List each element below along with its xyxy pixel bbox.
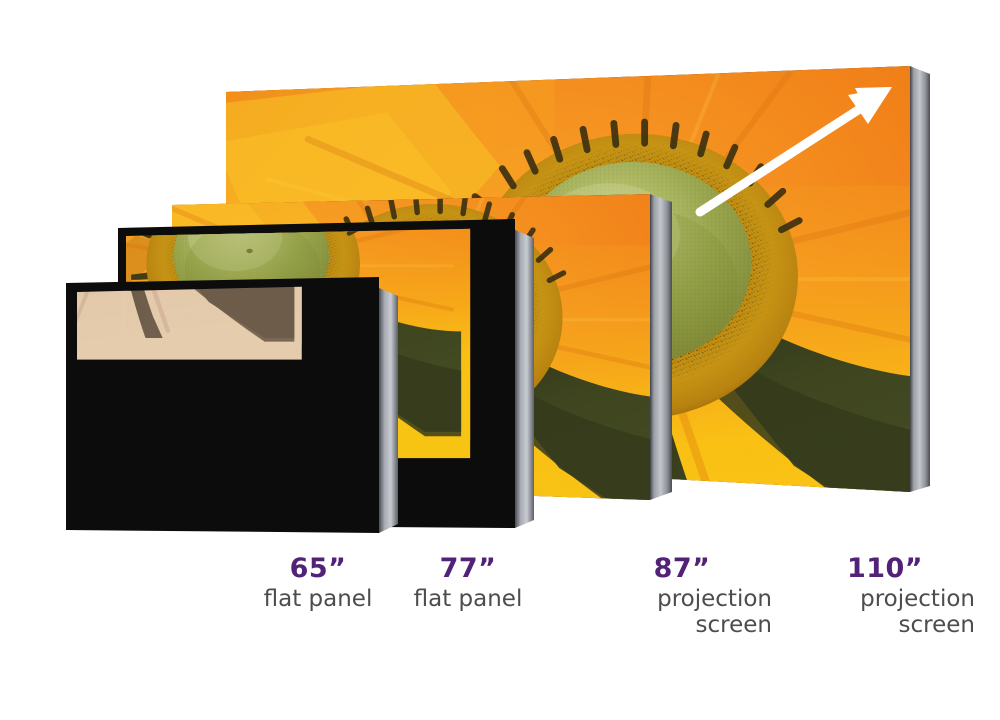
label-87-line-1: projection	[592, 587, 772, 613]
label-110: 110” projection screen	[795, 554, 975, 639]
panel-87-side-edge	[650, 194, 672, 500]
label-77-line-1: flat panel	[378, 587, 558, 613]
label-77: 77” flat panel	[378, 554, 558, 613]
label-110-description: projection screen	[795, 587, 975, 639]
panel-110-side-edge	[910, 66, 930, 492]
label-110-line-1: projection	[795, 587, 975, 613]
label-87-description: projection screen	[592, 587, 772, 639]
label-77-size: 77”	[378, 554, 558, 584]
label-110-line-2: screen	[795, 613, 975, 639]
label-87-size: 87”	[592, 554, 772, 584]
panel-65-side-edge	[379, 288, 398, 533]
label-87-line-2: screen	[592, 613, 772, 639]
label-110-size: 110”	[795, 554, 975, 584]
panel-77-side-edge	[515, 230, 534, 528]
label-87: 87” projection screen	[592, 554, 772, 639]
label-77-description: flat panel	[378, 587, 558, 613]
